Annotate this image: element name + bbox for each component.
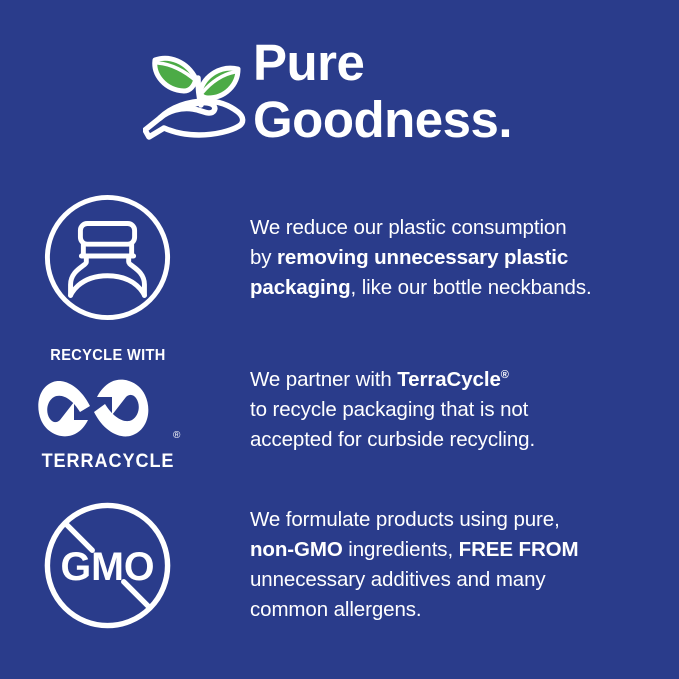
title-line-1: Pure: [253, 34, 673, 91]
title-line-2: Goodness.: [253, 91, 673, 148]
plastic-bottle-icon-cell: [0, 190, 215, 325]
text-line: common allergens.: [250, 595, 578, 625]
text-line: to recycle packaging that is not: [250, 395, 535, 425]
text-line: unnecessary additives and many: [250, 565, 578, 595]
feature-row-terracycle: RECYCLE WITH ® TERRACYCLE We partner wit…: [0, 342, 679, 477]
text-line: accepted for curbside recycling.: [250, 425, 535, 455]
page-title: Pure Goodness.: [253, 34, 673, 148]
no-gmo-icon-cell: GMO: [0, 495, 215, 635]
feature-text-terracycle: We partner with TerraCycle®to recycle pa…: [215, 365, 535, 455]
terracycle-logo-cell: RECYCLE WITH ® TERRACYCLE: [0, 342, 215, 477]
text-line: packaging, like our bottle neckbands.: [250, 273, 592, 303]
feature-row-non-gmo: GMO We formulate products using pure,non…: [0, 495, 679, 635]
gmo-label: GMO: [60, 544, 154, 588]
registered-mark: ®: [173, 430, 181, 441]
plastic-bottle-in-circle-icon: [41, 191, 174, 324]
no-gmo-icon: GMO: [41, 499, 174, 632]
hand-holding-sprout-icon: [143, 33, 255, 143]
text-line: non-GMO ingredients, FREE FROM: [250, 535, 578, 565]
text-line: We reduce our plastic consumption: [250, 213, 592, 243]
terracycle-wordmark: TERRACYCLE: [36, 451, 179, 473]
text-line: by removing unnecessary plastic: [250, 243, 592, 273]
feature-row-plastic-reduction: We reduce our plastic consumptionby remo…: [0, 190, 679, 325]
pure-goodness-infographic: Pure Goodness. We reduce our plastic con…: [0, 0, 679, 679]
terracycle-infinity-icon: ®: [33, 372, 183, 444]
text-line: We partner with TerraCycle®: [250, 365, 535, 395]
terracycle-top-text: RECYCLE WITH: [37, 347, 178, 365]
feature-text-plastic-reduction: We reduce our plastic consumptionby remo…: [215, 213, 592, 303]
text-line: We formulate products using pure,: [250, 505, 578, 535]
feature-text-non-gmo: We formulate products using pure,non-GMO…: [215, 505, 578, 625]
header: Pure Goodness.: [0, 0, 679, 175]
terracycle-logo: RECYCLE WITH ® TERRACYCLE: [33, 347, 183, 473]
